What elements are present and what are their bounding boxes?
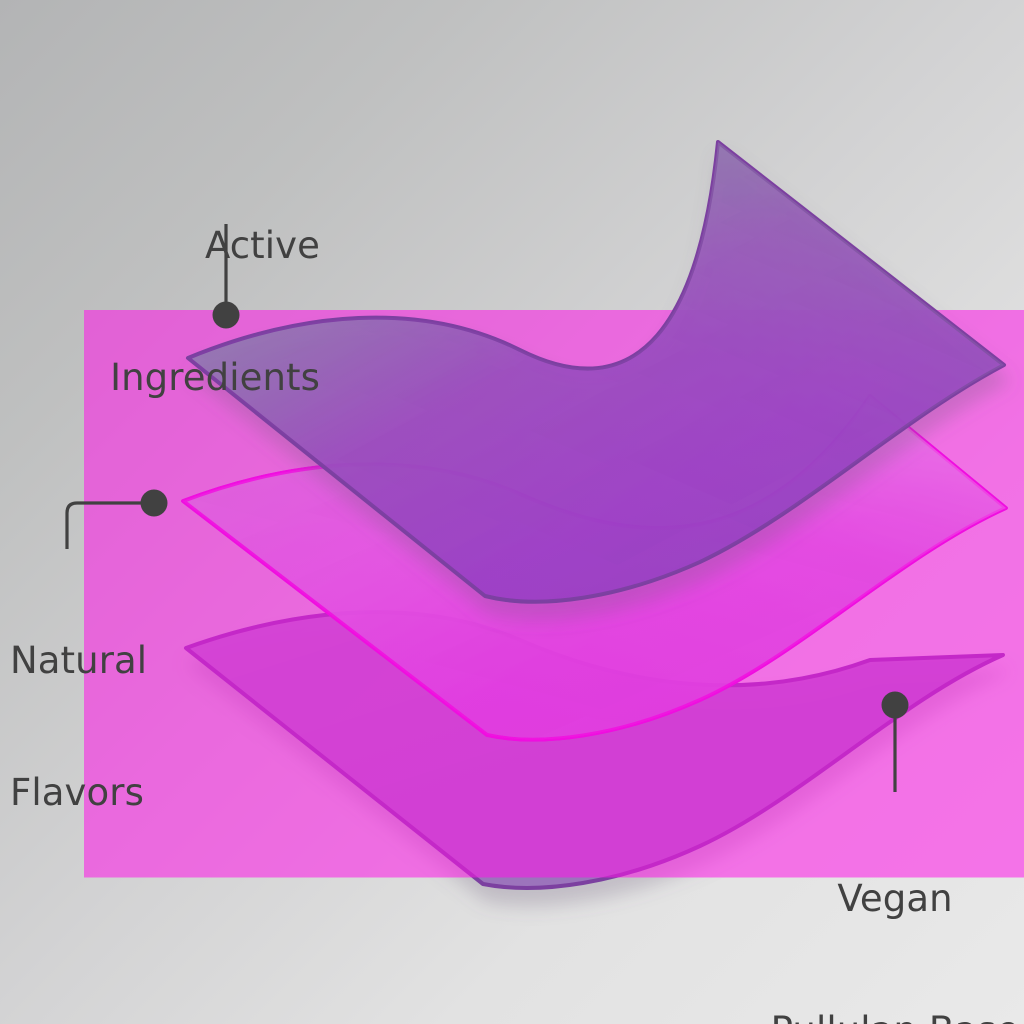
callout-vegan-pullulan-base — [882, 692, 909, 793]
label-active-ingredients-line2: Ingredients — [20, 356, 320, 400]
callout-dot-natural-flavors — [141, 490, 168, 517]
label-natural-flavors-line2: Flavors — [10, 771, 270, 815]
label-active-ingredients: Active Ingredients — [20, 136, 320, 488]
callout-dot-vegan-pullulan-base — [882, 692, 909, 719]
label-vegan-pullulan-base-line2: Pullulan Base — [679, 1009, 1024, 1024]
callout-natural-flavors — [67, 490, 168, 550]
layered-film-diagram: Active Ingredients Natural Flavors Vegan… — [0, 0, 1024, 1024]
leader-line-natural-flavors — [67, 503, 143, 549]
label-natural-flavors: Natural Flavors — [10, 551, 270, 903]
label-active-ingredients-line1: Active — [20, 224, 320, 268]
label-natural-flavors-line1: Natural — [10, 639, 270, 683]
label-vegan-pullulan-base-line1: Vegan — [679, 877, 1024, 921]
label-vegan-pullulan-base: Vegan Pullulan Base — [679, 789, 1024, 1024]
